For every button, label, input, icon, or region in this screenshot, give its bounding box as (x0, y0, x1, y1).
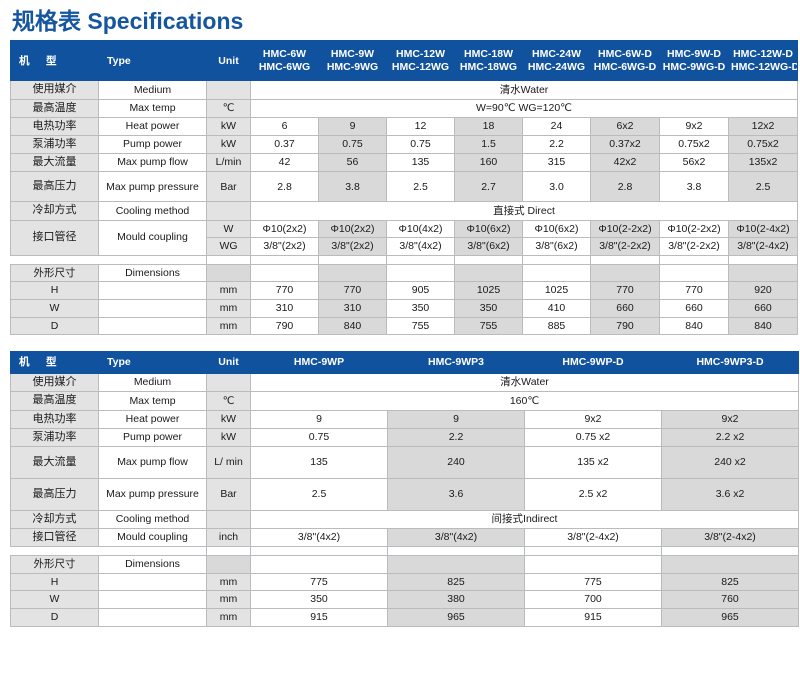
blank-cell (207, 556, 251, 574)
table-row: 最大流量 Max pump flow L/min 42 56 135 160 3… (11, 154, 798, 172)
dimension-label-en (99, 609, 207, 627)
table-row: W mm 310 310 350 350 410 660 660 660 (11, 299, 798, 317)
table-row: 最高压力 Max pump pressure Bar 2.8 3.8 2.5 2… (11, 172, 798, 202)
row-unit: kW (207, 117, 251, 135)
cell: 885 (523, 317, 591, 335)
cell: 9x2 (660, 117, 729, 135)
gap-cell (207, 547, 251, 556)
dimension-label-en (99, 299, 207, 317)
row-unit: mm (207, 609, 251, 627)
cell: Φ10(2-4x2) (729, 220, 798, 238)
cell: 770 (591, 282, 660, 300)
dimension-label: H (11, 573, 99, 591)
cell: 2.5 x2 (525, 478, 662, 510)
cell: 42 (251, 154, 319, 172)
header-model-cn: 机 型 (11, 41, 99, 81)
dimensions-header-row: 外形尺寸 Dimensions (11, 556, 799, 574)
cell: 755 (387, 317, 455, 335)
row-unit (207, 510, 251, 528)
cell: 56 (319, 154, 387, 172)
cell: 1025 (455, 282, 523, 300)
cell: 350 (251, 591, 388, 609)
dimensions-label-cn: 外形尺寸 (11, 264, 99, 282)
gap-cell (660, 255, 729, 264)
page-title-cn: 规格表 (12, 8, 81, 34)
cell: 0.75 (251, 428, 388, 446)
table-row: H mm 770 770 905 1025 1025 770 770 920 (11, 282, 798, 300)
table-row: 最大流量 Max pump flow L/ min 135 240 135 x2… (11, 446, 799, 478)
row-unit: mm (207, 299, 251, 317)
header-model-4: HMC-24WHMC-24WG (523, 41, 591, 81)
cell: 840 (319, 317, 387, 335)
cell: 6x2 (591, 117, 660, 135)
cell: 3/8"(4x2) (251, 529, 388, 547)
gap-cell (319, 255, 387, 264)
gap-cell (251, 547, 388, 556)
row-label-cn: 泵浦功率 (11, 428, 99, 446)
cell: 2.2 x2 (662, 428, 799, 446)
blank-cell (662, 556, 799, 574)
header-model-3: HMC-9WP3-D (662, 352, 799, 374)
row-unit: L/ min (207, 446, 251, 478)
cell: 240 x2 (662, 446, 799, 478)
gap-cell (99, 547, 207, 556)
row-label-en: Heat power (99, 117, 207, 135)
row-label-en: Max temp (99, 99, 207, 117)
table-gap-row (11, 255, 798, 264)
table-row: D mm 915 965 915 965 (11, 609, 799, 627)
blank-cell (251, 264, 319, 282)
blank-cell (388, 556, 525, 574)
cell: 18 (455, 117, 523, 135)
dimension-label: H (11, 282, 99, 300)
gap-cell (99, 255, 207, 264)
row-unit: Bar (207, 172, 251, 202)
row-label-cn: 接口管径 (11, 529, 99, 547)
specifications-page: 规格表 Specifications 机 型 Type Unit HMC-6WH… (0, 0, 800, 700)
header-type: Type (99, 352, 207, 374)
cell: 3/8"(4x2) (388, 529, 525, 547)
table-gap-row (11, 547, 799, 556)
row-label-en: Pump power (99, 428, 207, 446)
cell: 9x2 (525, 410, 662, 428)
row-label-cn: 冷却方式 (11, 510, 99, 528)
cell: 135x2 (729, 154, 798, 172)
dimensions-label-en: Dimensions (99, 264, 207, 282)
table-row: 电热功率 Heat power kW 9 9 9x2 9x2 (11, 410, 799, 428)
row-label-en: Mould coupling (99, 529, 207, 547)
cell: 0.37x2 (591, 136, 660, 154)
blank-cell (319, 264, 387, 282)
row-unit: mm (207, 591, 251, 609)
table-spacer (0, 335, 800, 351)
dimension-label: W (11, 299, 99, 317)
cell: 350 (455, 299, 523, 317)
cell: 3/8"(2-2x2) (660, 238, 729, 256)
cell: Φ10(2-2x2) (660, 220, 729, 238)
gap-cell (388, 547, 525, 556)
cell: 840 (660, 317, 729, 335)
row-label-en: Cooling method (99, 510, 207, 528)
header-model-7: HMC-12W-DHMC-12WG-D (729, 41, 798, 81)
cell: 3.8 (660, 172, 729, 202)
cell: Φ10(2x2) (319, 220, 387, 238)
row-label-cn: 接口管径 (11, 220, 99, 255)
row-span-value: W=90℃ WG=120℃ (251, 99, 798, 117)
cell: 3/8"(4x2) (387, 238, 455, 256)
cell: 3/8"(2-4x2) (662, 529, 799, 547)
gap-cell (11, 255, 99, 264)
cell: 3/8"(2x2) (251, 238, 319, 256)
row-label-en: Medium (99, 374, 207, 392)
cell: 6 (251, 117, 319, 135)
cell: 24 (523, 117, 591, 135)
cell: 3/8"(2x2) (319, 238, 387, 256)
cell: 9 (319, 117, 387, 135)
dimension-label-en (99, 317, 207, 335)
blank-cell (729, 264, 798, 282)
row-unit: WG (207, 238, 251, 256)
header-type: Type (99, 41, 207, 81)
header-model-2: HMC-9WP-D (525, 352, 662, 374)
row-span-value: 间接式Indirect (251, 510, 799, 528)
spec-table-primary: 机 型 Type Unit HMC-6WHMC-6WG HMC-9WHMC-9W… (10, 40, 798, 335)
cell: 56x2 (660, 154, 729, 172)
row-span-value: 160℃ (251, 392, 799, 410)
gap-cell (523, 255, 591, 264)
header-model-6: HMC-9W-DHMC-9WG-D (660, 41, 729, 81)
dimension-label: D (11, 609, 99, 627)
cell: 755 (455, 317, 523, 335)
cell: 240 (388, 446, 525, 478)
row-unit: kW (207, 410, 251, 428)
page-title: 规格表 Specifications (0, 0, 800, 40)
cell: 660 (729, 299, 798, 317)
row-label-en: Cooling method (99, 202, 207, 220)
row-label-cn: 电热功率 (11, 117, 99, 135)
table-row: 最高温度 Max temp ℃ 160℃ (11, 392, 799, 410)
table-row: 接口管径 Mould coupling W Φ10(2x2) Φ10(2x2) … (11, 220, 798, 238)
cell: 770 (660, 282, 729, 300)
row-unit: inch (207, 529, 251, 547)
dimensions-label-en: Dimensions (99, 556, 207, 574)
cell: 660 (591, 299, 660, 317)
cell: 1.5 (455, 136, 523, 154)
header-model-1: HMC-9WHMC-9WG (319, 41, 387, 81)
header-model-2: HMC-12WHMC-12WG (387, 41, 455, 81)
gap-cell (525, 547, 662, 556)
gap-cell (662, 547, 799, 556)
table-row: 最高压力 Max pump pressure Bar 2.5 3.6 2.5 x… (11, 478, 799, 510)
cell: 1025 (523, 282, 591, 300)
blank-cell (387, 264, 455, 282)
row-label-cn: 电热功率 (11, 410, 99, 428)
row-unit: L/min (207, 154, 251, 172)
cell: 310 (251, 299, 319, 317)
row-span-value: 清水Water (251, 374, 799, 392)
header-unit: Unit (207, 352, 251, 374)
header-model-0: HMC-6WHMC-6WG (251, 41, 319, 81)
cell: 2.2 (523, 136, 591, 154)
cell: Φ10(6x2) (455, 220, 523, 238)
row-unit (207, 202, 251, 220)
table2-header-row: 机 型 Type Unit HMC-9WP HMC-9WP3 HMC-9WP-D… (11, 352, 799, 374)
cell: 410 (523, 299, 591, 317)
row-label-en: Pump power (99, 136, 207, 154)
row-label-cn: 最大流量 (11, 154, 99, 172)
cell: 0.75x2 (660, 136, 729, 154)
row-label-en: Max pump flow (99, 154, 207, 172)
table-row: 泵浦功率 Pump power kW 0.75 2.2 0.75 x2 2.2 … (11, 428, 799, 446)
cell: 0.37 (251, 136, 319, 154)
row-unit: kW (207, 428, 251, 446)
row-unit: W (207, 220, 251, 238)
blank-cell (455, 264, 523, 282)
cell: 775 (251, 573, 388, 591)
row-label-cn: 冷却方式 (11, 202, 99, 220)
row-label-cn: 最高压力 (11, 478, 99, 510)
cell: 3/8"(2-2x2) (591, 238, 660, 256)
dimension-label-en (99, 591, 207, 609)
row-span-value: 清水Water (251, 81, 798, 99)
cell: 770 (319, 282, 387, 300)
table-row: 最高温度 Max temp ℃ W=90℃ WG=120℃ (11, 99, 798, 117)
cell: 135 (387, 154, 455, 172)
table1-header-row: 机 型 Type Unit HMC-6WHMC-6WG HMC-9WHMC-9W… (11, 41, 798, 81)
cell: 380 (388, 591, 525, 609)
row-label-cn: 泵浦功率 (11, 136, 99, 154)
cell: 915 (251, 609, 388, 627)
blank-cell (660, 264, 729, 282)
dimension-label: W (11, 591, 99, 609)
gap-cell (251, 255, 319, 264)
cell: 3/8"(2-4x2) (729, 238, 798, 256)
cell: 42x2 (591, 154, 660, 172)
gap-cell (455, 255, 523, 264)
table-row: D mm 790 840 755 755 885 790 840 840 (11, 317, 798, 335)
cell: 700 (525, 591, 662, 609)
row-unit: mm (207, 282, 251, 300)
dimension-label-en (99, 573, 207, 591)
cell: 3.0 (523, 172, 591, 202)
page-title-en: Specifications (87, 8, 243, 34)
row-label-en: Max temp (99, 392, 207, 410)
header-model-1: HMC-9WP3 (388, 352, 525, 374)
cell: 0.75 (387, 136, 455, 154)
row-unit: kW (207, 136, 251, 154)
gap-cell (591, 255, 660, 264)
table-row: 电热功率 Heat power kW 6 9 12 18 24 6x2 9x2 … (11, 117, 798, 135)
row-label-cn: 最大流量 (11, 446, 99, 478)
cell: 12 (387, 117, 455, 135)
row-label-en: Max pump flow (99, 446, 207, 478)
header-model-5: HMC-6W-DHMC-6WG-D (591, 41, 660, 81)
cell: 12x2 (729, 117, 798, 135)
row-unit: Bar (207, 478, 251, 510)
table-row: 冷却方式 Cooling method 间接式Indirect (11, 510, 799, 528)
cell: 2.5 (251, 478, 388, 510)
cell: 2.8 (251, 172, 319, 202)
cell: 825 (662, 573, 799, 591)
row-label-en: Max pump pressure (99, 478, 207, 510)
cell: 3.6 x2 (662, 478, 799, 510)
cell: 2.2 (388, 428, 525, 446)
cell: 9 (251, 410, 388, 428)
cell: 3/8"(2-4x2) (525, 529, 662, 547)
cell: Φ10(4x2) (387, 220, 455, 238)
row-label-cn: 最高压力 (11, 172, 99, 202)
table-row: 使用媒介 Medium 清水Water (11, 81, 798, 99)
header-unit: Unit (207, 41, 251, 81)
cell: 775 (525, 573, 662, 591)
cell: Φ10(6x2) (523, 220, 591, 238)
row-label-cn: 使用媒介 (11, 374, 99, 392)
cell: 135 (251, 446, 388, 478)
cell: 790 (591, 317, 660, 335)
blank-cell (207, 264, 251, 282)
blank-cell (525, 556, 662, 574)
gap-cell (729, 255, 798, 264)
row-unit: ℃ (207, 392, 251, 410)
table-row: 使用媒介 Medium 清水Water (11, 374, 799, 392)
cell: 3.8 (319, 172, 387, 202)
cell: 9x2 (662, 410, 799, 428)
cell: 3/8"(6x2) (455, 238, 523, 256)
cell: Φ10(2-2x2) (591, 220, 660, 238)
table-row: 接口管径 Mould coupling inch 3/8"(4x2) 3/8"(… (11, 529, 799, 547)
cell: 2.5 (387, 172, 455, 202)
header-model-cn: 机 型 (11, 352, 99, 374)
cell: 660 (660, 299, 729, 317)
blank-cell (523, 264, 591, 282)
cell: 2.5 (729, 172, 798, 202)
dimension-label-en (99, 282, 207, 300)
cell: 310 (319, 299, 387, 317)
cell: 0.75x2 (729, 136, 798, 154)
row-unit: ℃ (207, 99, 251, 117)
row-span-value: 直接式 Direct (251, 202, 798, 220)
cell: 3/8"(6x2) (523, 238, 591, 256)
gap-cell (387, 255, 455, 264)
cell: 920 (729, 282, 798, 300)
cell: 965 (388, 609, 525, 627)
spec-table-secondary: 机 型 Type Unit HMC-9WP HMC-9WP3 HMC-9WP-D… (10, 351, 799, 627)
row-unit (207, 81, 251, 99)
header-model-3: HMC-18WHMC-18WG (455, 41, 523, 81)
cell: 965 (662, 609, 799, 627)
row-label-cn: 最高温度 (11, 392, 99, 410)
row-label-cn: 最高温度 (11, 99, 99, 117)
blank-cell (591, 264, 660, 282)
cell: 2.7 (455, 172, 523, 202)
header-model-0: HMC-9WP (251, 352, 388, 374)
row-unit: mm (207, 573, 251, 591)
gap-cell (11, 547, 99, 556)
cell: 0.75 x2 (525, 428, 662, 446)
cell: Φ10(2x2) (251, 220, 319, 238)
dimension-label: D (11, 317, 99, 335)
row-label-en: Medium (99, 81, 207, 99)
blank-cell (251, 556, 388, 574)
row-label-en: Heat power (99, 410, 207, 428)
row-unit (207, 374, 251, 392)
cell: 3.6 (388, 478, 525, 510)
cell: 315 (523, 154, 591, 172)
cell: 825 (388, 573, 525, 591)
cell: 0.75 (319, 136, 387, 154)
cell: 915 (525, 609, 662, 627)
table-row: 冷却方式 Cooling method 直接式 Direct (11, 202, 798, 220)
gap-cell (207, 255, 251, 264)
row-label-en: Max pump pressure (99, 172, 207, 202)
cell: 135 x2 (525, 446, 662, 478)
table-row: W mm 350 380 700 760 (11, 591, 799, 609)
table-row: 泵浦功率 Pump power kW 0.37 0.75 0.75 1.5 2.… (11, 136, 798, 154)
cell: 770 (251, 282, 319, 300)
dimensions-label-cn: 外形尺寸 (11, 556, 99, 574)
table-row: H mm 775 825 775 825 (11, 573, 799, 591)
cell: 350 (387, 299, 455, 317)
row-label-cn: 使用媒介 (11, 81, 99, 99)
dimensions-header-row: 外形尺寸 Dimensions (11, 264, 798, 282)
row-unit: mm (207, 317, 251, 335)
cell: 760 (662, 591, 799, 609)
cell: 905 (387, 282, 455, 300)
row-label-en: Mould coupling (99, 220, 207, 255)
cell: 790 (251, 317, 319, 335)
cell: 2.8 (591, 172, 660, 202)
cell: 9 (388, 410, 525, 428)
cell: 160 (455, 154, 523, 172)
cell: 840 (729, 317, 798, 335)
